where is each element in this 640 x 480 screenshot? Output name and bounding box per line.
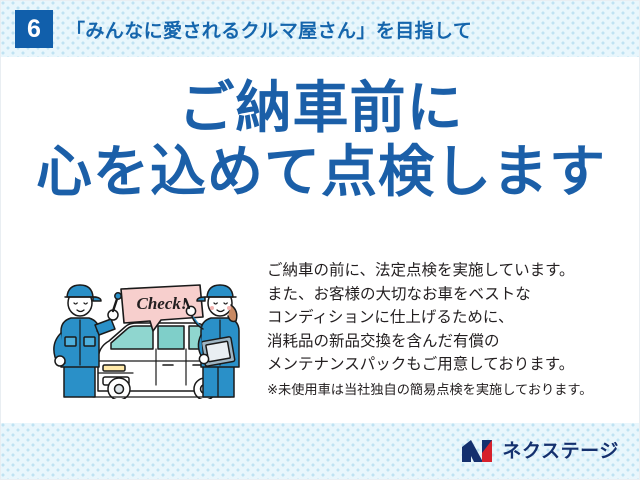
advertisement-panel: 6 「みんなに愛されるクルマ屋さん」を目指して ご納車前に 心を込めて点検します xyxy=(0,0,640,480)
copy-line-5: メンテナンスパックもご用意しております。 xyxy=(267,353,623,377)
headline: ご納車前に 心を込めて点検します xyxy=(1,79,640,201)
header-title: 「みんなに愛されるクルマ屋さん」を目指して xyxy=(66,16,472,43)
copy-line-3: コンディションに仕上げるために、 xyxy=(267,306,623,330)
mechanics-inspection-illustration: Check! xyxy=(53,273,268,399)
headline-line-2: 心を込めて点検します xyxy=(1,143,640,201)
copy-line-2: また、お客様の大切なお車をベストな xyxy=(267,283,623,307)
body-copy: ご納車の前に、法定点検を実施しています。 また、お客様の大切なお車をベストな コ… xyxy=(267,259,623,400)
n-logo-icon xyxy=(461,439,495,463)
headline-line-1: ご納車前に xyxy=(1,79,640,137)
header: 6 「みんなに愛されるクルマ屋さん」を目指して xyxy=(1,1,640,57)
brand-logo: ネクステージ xyxy=(461,438,619,464)
copy-note: ※未使用車は当社独自の簡易点検を実施しております。 xyxy=(267,379,623,400)
brand-name: ネクステージ xyxy=(502,442,619,461)
step-number-badge: 6 xyxy=(15,10,53,48)
check-bubble-label: Check! xyxy=(137,294,188,313)
illustration-graphic: Check! xyxy=(53,273,268,399)
copy-line-4: 消耗品の新品交換を含んだ有償の xyxy=(267,330,623,354)
copy-line-1: ご納車の前に、法定点検を実施しています。 xyxy=(267,259,623,283)
